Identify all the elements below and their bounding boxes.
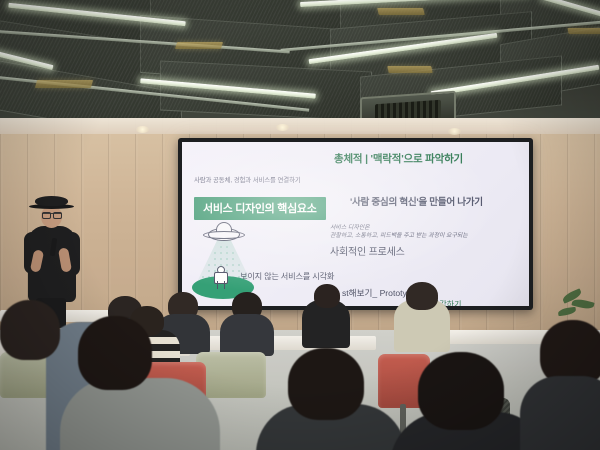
slide-title: 총체적 | '맥락적'으로 파악하기 xyxy=(334,151,463,166)
ceiling-vent xyxy=(175,42,223,49)
wall-trim xyxy=(0,118,600,134)
slide-headline: '사람 중심의 혁신'을 만들어 나가기 xyxy=(350,194,483,208)
glasses-bridge-icon xyxy=(42,213,61,218)
presenter-hat xyxy=(35,196,68,206)
ceiling-vent xyxy=(377,8,425,15)
person-legs-icon xyxy=(217,281,225,289)
ufo-ring-icon xyxy=(203,231,245,239)
recessed-downlight xyxy=(136,126,149,133)
presentation-slide: 총체적 | '맥락적'으로 파악하기 사람과 공동체, 경험과 서비스를 연결하… xyxy=(182,142,529,306)
leaf-icon xyxy=(558,307,577,316)
slide-italic-line-1: 서비스 디자인은 xyxy=(330,224,468,232)
recessed-downlight xyxy=(276,124,289,131)
projection-screen-frame: 총체적 | '맥락적'으로 파악하기 사람과 공동체, 경험과 서비스를 연결하… xyxy=(178,138,533,310)
chair xyxy=(196,352,266,398)
ceiling xyxy=(0,0,600,132)
conference-room-photo: 총체적 | '맥락적'으로 파악하기 사람과 공동체, 경험과 서비스를 연결하… xyxy=(0,0,600,450)
ceiling-vent xyxy=(387,66,432,73)
audience-head-front xyxy=(78,316,152,390)
audience-head-front xyxy=(418,352,504,430)
audience-torso-front xyxy=(520,376,600,450)
audience-head-front xyxy=(288,348,364,420)
audience-head xyxy=(406,282,438,310)
slide-italic-block: 서비스 디자인은 관찰하고, 소통하고, 피드백을 주고 받는 과정이 요구되는 xyxy=(330,224,468,241)
audience-torso xyxy=(220,314,274,356)
projection-screen: 총체적 | '맥락적'으로 파악하기 사람과 공동체, 경험과 서비스를 연결하… xyxy=(182,142,529,306)
audience-torso-front xyxy=(60,378,220,450)
ufo-beam-person-illustration xyxy=(190,222,274,306)
ceiling-vent xyxy=(35,80,93,88)
ceiling-vent xyxy=(567,28,600,34)
audience-head-front xyxy=(0,300,60,360)
slide-subtitle: 사람과 공동체, 경험과 서비스를 연결하기 xyxy=(194,175,301,184)
potted-plant xyxy=(556,288,600,336)
slide-process-label: 사회적인 프로세스 xyxy=(330,243,405,258)
slide-italic-line-2: 관찰하고, 소통하고, 피드백을 주고 받는 과정이 요구되는 xyxy=(330,232,468,240)
recessed-downlight xyxy=(448,128,461,135)
audience-head xyxy=(314,284,340,308)
slide-green-banner: 서비스 디자인의 핵심요소 xyxy=(194,197,326,220)
